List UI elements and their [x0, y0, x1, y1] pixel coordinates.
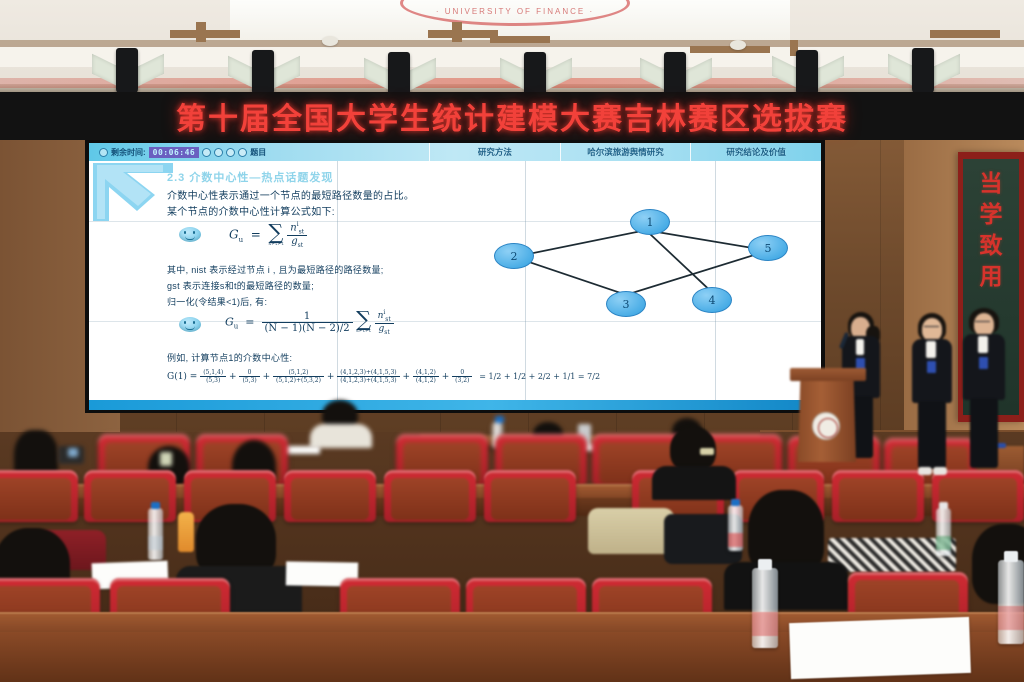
audience-shoulders	[310, 424, 372, 448]
slide-nav-left: 剩余时间: 00:06:46 题目	[89, 143, 429, 161]
glasses-icon	[924, 326, 939, 330]
slide-heading: 2.3 介数中心性—热点话题发现	[167, 169, 333, 185]
formula-example-expanded: G(1) = (5,1,4)(5,3) + 0(5,3) + (5,1,2)(5…	[167, 369, 600, 384]
prev-icon[interactable]	[226, 148, 235, 157]
timer-label: 剩余时间:	[111, 147, 146, 158]
slide-content: 2.3 介数中心性—热点话题发现 介数中心性表示通过一个节点的最短路径数量的占比…	[89, 161, 821, 400]
graph-node-2[interactable]: 2	[494, 243, 534, 269]
audience-shoulders	[652, 466, 736, 500]
glasses-icon	[975, 321, 990, 325]
water-bottle	[936, 508, 951, 556]
front-desk-papers	[789, 617, 971, 679]
slide-footer-bar	[89, 400, 821, 410]
water-bottle	[148, 508, 163, 560]
calligraphy-char-4: 用	[980, 266, 1003, 289]
slide-paragraph-2: 某个节点的介数中心性计算公式如下:	[167, 203, 335, 218]
calligraphy-char-2: 学	[980, 204, 1003, 227]
smoke-detector-icon	[322, 36, 338, 46]
seat[interactable]	[384, 470, 476, 532]
next-icon[interactable]	[238, 148, 247, 157]
formula-betweenness: Gu = ∑ s≠t≠t nist gst	[229, 221, 307, 249]
seat[interactable]	[832, 470, 924, 532]
seat[interactable]	[0, 470, 78, 532]
audience-shoulders	[724, 562, 848, 610]
play-icon[interactable]	[202, 148, 211, 157]
slide-nav-bar: 剩余时间: 00:06:46 题目 研究方法 哈尔滨旅游舆情研究 研究结论及价值	[89, 143, 821, 161]
name-badge	[927, 361, 936, 373]
water-bottle	[752, 568, 778, 648]
drink-bottle	[178, 512, 194, 552]
smiley-bullet-icon	[179, 317, 201, 332]
graph-node-3[interactable]: 3	[606, 291, 646, 317]
water-bottle	[728, 505, 743, 551]
projection-screen: 剩余时间: 00:06:46 题目 研究方法 哈尔滨旅游舆情研究 研究结论及价值	[85, 140, 825, 413]
graph-node-1[interactable]: 1	[630, 209, 670, 235]
university-emblem-icon	[812, 412, 840, 440]
formula-example-lhs: G(1) =	[167, 372, 197, 382]
handbag	[588, 508, 674, 554]
tab-conclusion-value[interactable]: 研究结论及价值	[690, 143, 821, 161]
water-bottle	[998, 560, 1024, 644]
formula-normalized: Gu = 1 (N − 1)(N − 2)/2 ∑s≠t≠t nist gst	[225, 309, 394, 336]
tab-research-method[interactable]: 研究方法	[429, 143, 560, 161]
decorative-arrow	[93, 163, 173, 221]
hair-clip-icon	[160, 452, 172, 466]
slide-paragraph-1: 介数中心性表示通过一个节点的最短路径数量的占比。	[167, 187, 414, 202]
name-badge	[979, 357, 988, 369]
presenter-teammate-1	[908, 313, 956, 478]
pause-icon[interactable]	[214, 148, 223, 157]
hair-clip-icon	[700, 448, 714, 455]
calligraphy-char-3: 致	[980, 235, 1003, 258]
presenter-teammate-2	[960, 308, 1008, 476]
slide-example-label: 例如, 计算节点1的介数中心性:	[167, 351, 292, 364]
banner-title: 第十届全国大学生统计建模大赛吉林赛区选拔赛	[0, 92, 1024, 140]
graph-node-5[interactable]: 5	[748, 235, 788, 261]
smoke-detector-icon	[730, 40, 746, 50]
formula-example-result: = 1/2 + 1/2 + 2/2 + 1/1 = 7/2	[479, 372, 600, 381]
menu-label[interactable]: 题目	[250, 147, 266, 158]
slide-note-2: gst 表示连接s和t的最短路径的数量;	[167, 279, 314, 292]
network-graph-diagram: 1 2 3 4 5	[484, 203, 784, 318]
slide-note-3: 归一化(令结果<1)后, 有:	[167, 295, 267, 308]
lecture-hall-scene: · UNIVERSITY OF FINANCE ·	[0, 0, 1024, 682]
tab-harbin-tourism-study[interactable]: 哈尔滨旅游舆情研究	[560, 143, 691, 161]
seat[interactable]	[284, 470, 376, 532]
seat[interactable]	[484, 470, 576, 532]
calligraphy-char-1: 当	[980, 173, 1003, 196]
countdown-timer: 00:06:46	[149, 147, 200, 158]
graph-node-4[interactable]: 4	[692, 287, 732, 313]
clock-icon	[99, 148, 108, 157]
slide-note-1: 其中, nist 表示经过节点 i , 且为最短路径的路径数量;	[167, 263, 384, 276]
phone-screen	[68, 448, 78, 457]
podium	[796, 368, 860, 462]
smiley-bullet-icon	[179, 227, 201, 242]
